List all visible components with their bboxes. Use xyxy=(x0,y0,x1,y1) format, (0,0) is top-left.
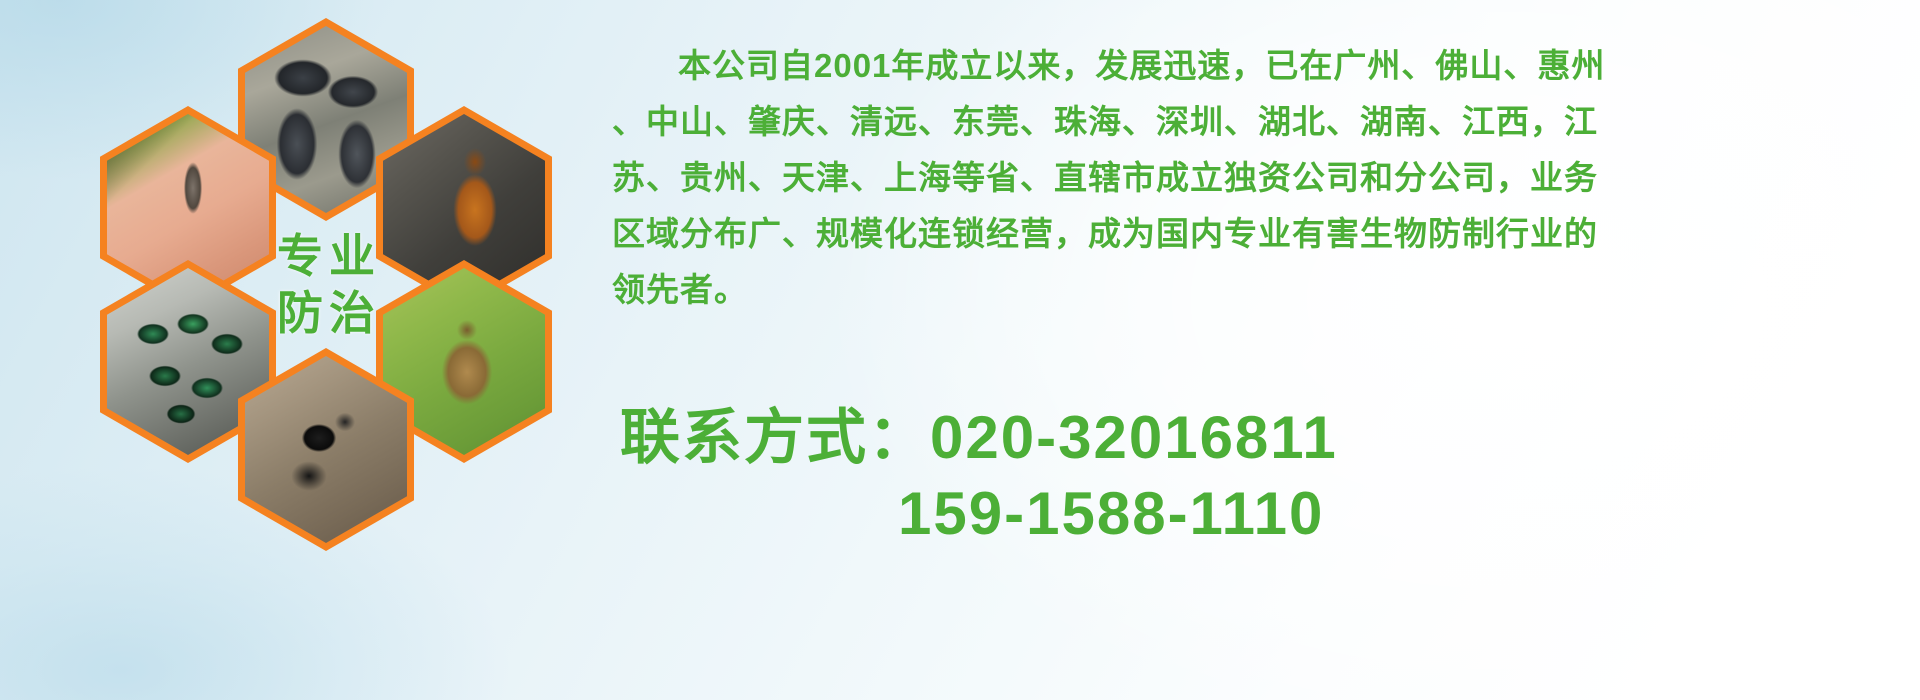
contact-phone-2[interactable]: 159-1588-1110 xyxy=(620,476,1900,552)
company-description: 本公司自2001年成立以来，发展迅速，已在广州、佛山、惠州 、中山、肇庆、清远、… xyxy=(612,38,1902,318)
contact-primary-line: 联系方式：020-32016811 xyxy=(620,400,1900,476)
description-line-1: 本公司自2001年成立以来，发展迅速，已在广州、佛山、惠州 xyxy=(612,38,1902,94)
hex-center-badge: 专业 防治 xyxy=(238,183,414,386)
badge-line-1: 专业 xyxy=(271,228,381,284)
contact-block: 联系方式：020-32016811 159-1588-1110 xyxy=(620,400,1900,552)
contact-label: 联系方式： xyxy=(620,404,930,471)
pest-control-banner: 专业 防治 本公司自2001年成立以来，发展迅速，已在广州、佛山、惠州 、中山、… xyxy=(0,0,1920,700)
description-line-3: 苏、贵州、天津、上海等省、直辖市成立独资公司和分公司，业务 xyxy=(612,150,1902,206)
contact-phone-1[interactable]: 020-32016811 xyxy=(930,404,1338,471)
description-line-2: 、中山、肇庆、清远、东莞、珠海、深圳、湖北、湖南、江西，江 xyxy=(612,94,1902,150)
badge-line-2: 防治 xyxy=(271,285,381,341)
description-line-4: 区域分布广、规模化连锁经营，成为国内专业有害生物防制行业的 xyxy=(612,206,1902,262)
description-line-5: 领先者。 xyxy=(612,262,1902,318)
honeycomb-image-cluster: 专业 防治 xyxy=(88,10,588,555)
